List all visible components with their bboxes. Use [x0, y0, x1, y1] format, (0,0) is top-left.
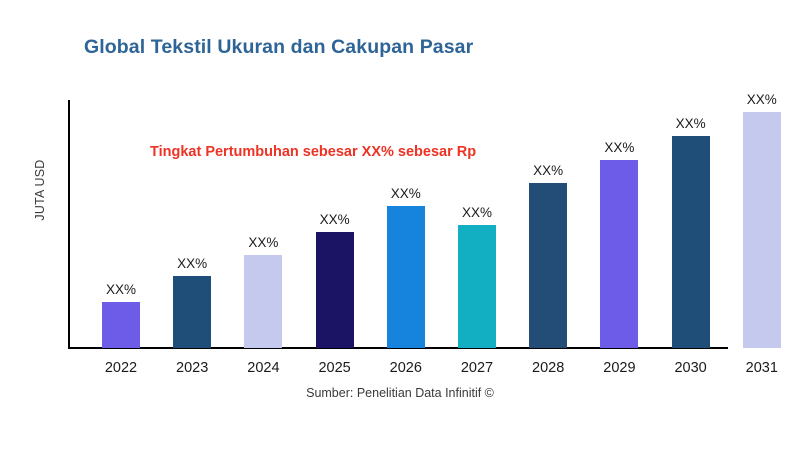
bar-group-2022[interactable]: XX%2022 — [102, 302, 140, 349]
x-axis-tick-label-2030: 2030 — [658, 360, 724, 376]
x-axis-tick-label-2027: 2027 — [444, 360, 510, 376]
x-axis-tick-label-2025: 2025 — [302, 360, 368, 376]
source-caption: Sumber: Penelitian Data Infinitif © — [0, 386, 800, 400]
x-axis-tick-label-2022: 2022 — [88, 360, 154, 376]
bar-rect-2022[interactable] — [102, 302, 140, 349]
x-axis-tick-label-2029: 2029 — [586, 360, 652, 376]
bar-value-label-2025: XX% — [304, 212, 366, 227]
bar-rect-2029[interactable] — [600, 160, 638, 348]
bar-value-label-2022: XX% — [90, 282, 152, 297]
bar-rect-2024[interactable] — [244, 255, 282, 348]
bar-chart-figure: Global Tekstil Ukuran dan Cakupan Pasar … — [0, 0, 800, 450]
y-axis-title: JUTA USD — [33, 130, 47, 250]
bar-value-label-2024: XX% — [232, 235, 294, 250]
bar-rect-2025[interactable] — [316, 232, 354, 348]
bar-group-2030[interactable]: XX%2030 — [672, 136, 710, 348]
bar-value-label-2028: XX% — [517, 163, 579, 178]
bar-group-2026[interactable]: XX%2026 — [387, 206, 425, 348]
bar-rect-2031[interactable] — [743, 112, 781, 348]
bar-group-2031[interactable]: XX%2031 — [743, 112, 781, 348]
bar-value-label-2027: XX% — [446, 205, 508, 220]
bar-rect-2026[interactable] — [387, 206, 425, 348]
y-axis-line — [68, 100, 70, 348]
bar-rect-2023[interactable] — [173, 276, 211, 348]
bar-value-label-2031: XX% — [731, 92, 793, 107]
bar-rect-2027[interactable] — [458, 225, 496, 348]
x-axis-tick-label-2031: 2031 — [729, 360, 795, 376]
bar-value-label-2026: XX% — [375, 186, 437, 201]
bar-group-2027[interactable]: XX%2027 — [458, 225, 496, 348]
bar-rect-2030[interactable] — [672, 136, 710, 348]
growth-rate-annotation: Tingkat Pertumbuhan sebesar XX% sebesar … — [150, 144, 476, 160]
bar-value-label-2029: XX% — [588, 140, 650, 155]
bar-group-2028[interactable]: XX%2028 — [529, 183, 567, 348]
x-axis-tick-label-2028: 2028 — [515, 360, 581, 376]
bar-group-2029[interactable]: XX%2029 — [600, 160, 638, 348]
bar-group-2025[interactable]: XX%2025 — [316, 232, 354, 348]
x-axis-tick-label-2026: 2026 — [373, 360, 439, 376]
bar-group-2023[interactable]: XX%2023 — [173, 276, 211, 348]
bar-group-2024[interactable]: XX%2024 — [244, 255, 282, 348]
x-axis-tick-label-2023: 2023 — [159, 360, 225, 376]
bar-value-label-2030: XX% — [660, 116, 722, 131]
bar-rect-2028[interactable] — [529, 183, 567, 348]
plot-area: JUTA USD Tingkat Pertumbuhan sebesar XX%… — [0, 0, 800, 450]
x-axis-tick-label-2024: 2024 — [230, 360, 296, 376]
bar-value-label-2023: XX% — [161, 256, 223, 271]
